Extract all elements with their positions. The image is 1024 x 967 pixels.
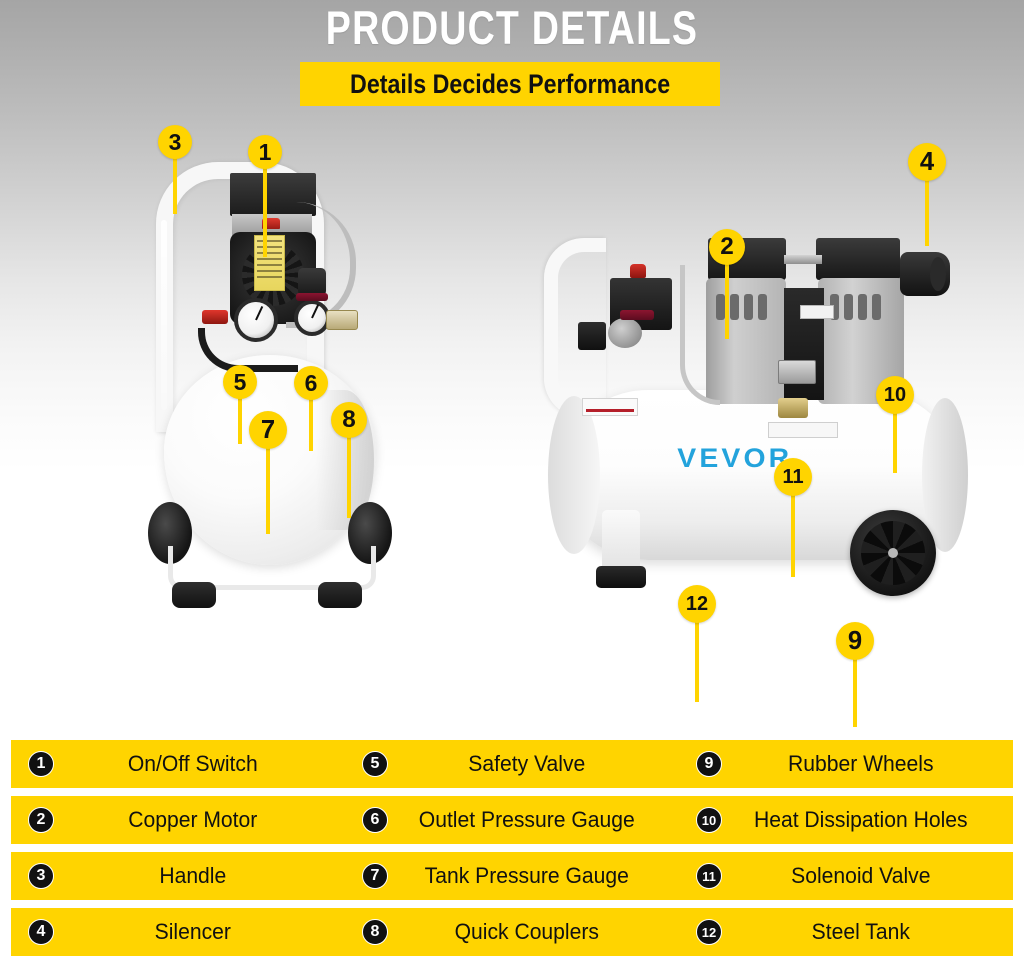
- heat-dissipation-hole: [744, 294, 753, 320]
- legend-label: On/Off Switch: [60, 751, 339, 777]
- legend-item-7[interactable]: 7Tank Pressure Gauge: [345, 852, 679, 900]
- brass-fitting: [778, 398, 808, 418]
- rubber-foot-left: [172, 582, 216, 608]
- callout-number-5[interactable]: 5: [223, 365, 257, 399]
- callout-number-12[interactable]: 12: [678, 585, 716, 623]
- motor-link-bar: [784, 255, 822, 264]
- motor-head-right: [816, 238, 900, 280]
- heat-dissipation-hole: [858, 294, 867, 320]
- legend-number-badge: 6: [362, 807, 388, 833]
- heat-dissipation-hole: [872, 294, 881, 320]
- legend-number-badge: 9: [696, 751, 722, 777]
- callout-number-1[interactable]: 1: [248, 135, 282, 169]
- legend-number-badge: 8: [362, 919, 388, 945]
- outlet-block: [578, 322, 606, 350]
- legend-number-badge: 7: [362, 863, 388, 889]
- legend-column-2: 5Safety Valve6Outlet Pressure Gauge7Tank…: [345, 740, 679, 964]
- legend-label: Outlet Pressure Gauge: [394, 807, 673, 833]
- legend-item-5[interactable]: 5Safety Valve: [345, 740, 679, 788]
- warning-sticker: [800, 305, 834, 319]
- heat-dissipation-hole: [730, 294, 739, 320]
- callout-number-11[interactable]: 11: [774, 458, 812, 496]
- callout-number-9[interactable]: 9: [836, 622, 874, 660]
- heat-dissipation-hole: [758, 294, 767, 320]
- tank-end-cap-left: [548, 396, 600, 554]
- legend-item-10[interactable]: 10Heat Dissipation Holes: [679, 796, 1013, 844]
- outlet-pressure-gauge-part: [294, 300, 330, 336]
- legend-item-3[interactable]: 3Handle: [11, 852, 345, 900]
- rubber-foot-pad: [596, 566, 646, 588]
- legend-label: Silencer: [60, 919, 339, 945]
- rubber-wheel-side: [850, 510, 936, 596]
- legend-item-6[interactable]: 6Outlet Pressure Gauge: [345, 796, 679, 844]
- callout-number-4[interactable]: 4: [908, 143, 946, 181]
- callout-number-2[interactable]: 2: [709, 229, 745, 265]
- front-foot-bracket: [602, 510, 640, 572]
- legend-label: Tank Pressure Gauge: [394, 863, 673, 889]
- legend-number-badge: 11: [696, 863, 722, 889]
- braided-steel-hose-side: [680, 265, 720, 405]
- legend-number-badge: 2: [28, 807, 54, 833]
- legend-number-badge: 12: [696, 919, 722, 945]
- legend-number-badge: 5: [362, 751, 388, 777]
- callout-number-7[interactable]: 7: [249, 411, 287, 449]
- legend-label: Rubber Wheels: [728, 751, 1007, 777]
- safety-valve-part: [202, 310, 228, 324]
- product-image-stage: VEVOR: [0, 0, 1024, 740]
- spec-sticker-right: [768, 422, 838, 438]
- front-view-air-compressor: [120, 150, 440, 640]
- quick-coupler-part: [326, 310, 358, 330]
- legend-item-11[interactable]: 11Solenoid Valve: [679, 852, 1013, 900]
- on-off-switch-knob-side: [630, 264, 646, 278]
- legend-label: Safety Valve: [394, 751, 673, 777]
- legend-column-1: 1On/Off Switch2Copper Motor3Handle4Silen…: [11, 740, 345, 964]
- tank-pressure-gauge-part: [234, 298, 278, 342]
- side-view-air-compressor: VEVOR: [530, 160, 1010, 640]
- legend-number-badge: 1: [28, 751, 54, 777]
- callout-number-10[interactable]: 10: [876, 376, 914, 414]
- regulator-ring: [296, 293, 328, 301]
- legend-item-2[interactable]: 2Copper Motor: [11, 796, 345, 844]
- callout-number-6[interactable]: 6: [294, 366, 328, 400]
- warning-label: [254, 235, 285, 291]
- callout-number-8[interactable]: 8: [331, 402, 367, 438]
- spec-sticker-left: [582, 398, 638, 416]
- legend-table: 1On/Off Switch2Copper Motor3Handle4Silen…: [0, 740, 1024, 967]
- legend-label: Solenoid Valve: [728, 863, 1007, 889]
- handle-highlight: [161, 220, 167, 410]
- legend-number-badge: 4: [28, 919, 54, 945]
- product-details-infographic: PRODUCT DETAILS Details Decides Performa…: [0, 0, 1024, 967]
- legend-item-12[interactable]: 12Steel Tank: [679, 908, 1013, 956]
- legend-item-4[interactable]: 4Silencer: [11, 908, 345, 956]
- legend-label: Heat Dissipation Holes: [728, 807, 1007, 833]
- silencer-part: [900, 252, 950, 296]
- solenoid-valve-part: [778, 360, 816, 384]
- legend-number-badge: 3: [28, 863, 54, 889]
- legend-item-1[interactable]: 1On/Off Switch: [11, 740, 345, 788]
- legend-label: Handle: [60, 863, 339, 889]
- rubber-foot-right: [318, 582, 362, 608]
- legend-label: Steel Tank: [728, 919, 1007, 945]
- legend-item-8[interactable]: 8Quick Couplers: [345, 908, 679, 956]
- regulator-knob: [298, 268, 326, 296]
- regulator-part: [608, 318, 642, 348]
- regulator-ring-side: [620, 310, 654, 320]
- callout-number-3[interactable]: 3: [158, 125, 192, 159]
- legend-number-badge: 10: [696, 807, 722, 833]
- legend-item-9[interactable]: 9Rubber Wheels: [679, 740, 1013, 788]
- legend-column-3: 9Rubber Wheels10Heat Dissipation Holes11…: [679, 740, 1013, 964]
- legend-label: Quick Couplers: [394, 919, 673, 945]
- heat-dissipation-hole: [844, 294, 853, 320]
- label-lines: [257, 240, 282, 282]
- legend-label: Copper Motor: [60, 807, 339, 833]
